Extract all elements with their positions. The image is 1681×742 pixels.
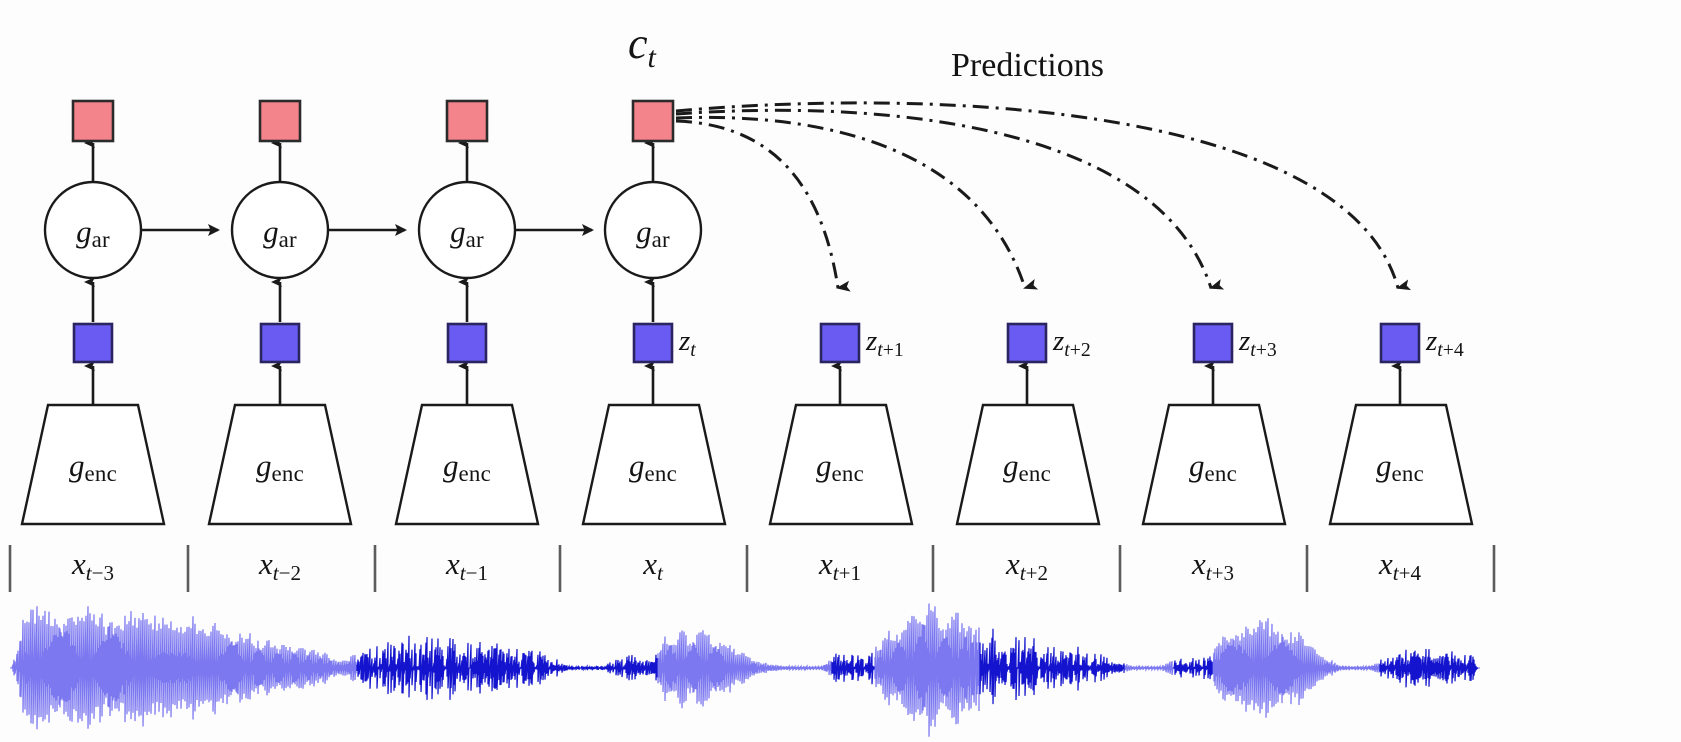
context-box [73,101,113,141]
predictions-label: Predictions [951,49,1104,83]
input-label-2: xt−1 [407,548,527,579]
waveform-segment [1213,618,1379,718]
waveform-segment [1174,657,1212,680]
latent-label-3: zt [679,327,696,356]
input-label-0: xt−3 [33,548,153,579]
latent-box [1008,324,1046,362]
latent-label-6: zt+3 [1239,327,1277,356]
latent-box [74,324,112,362]
context-box [260,101,300,141]
waveform-segment [832,653,874,684]
waveform-segment [357,636,657,700]
encoder-label-4: genc [775,450,905,481]
latent-box [261,324,299,362]
prediction-curve-1 [676,121,838,288]
ar-cell-label-2: gar [419,216,515,247]
waveform-segment [658,630,831,708]
waveform-segment [12,606,356,729]
latent-box [821,324,859,362]
input-label-6: xt+3 [1153,548,1273,579]
encoder-label-2: genc [402,450,532,481]
prediction-curves [676,103,1398,288]
encoder-label-0: genc [28,450,158,481]
ar-cell-label-3: gar [605,216,701,247]
waveform-segment [1125,661,1173,675]
figure-canvas: ct Predictions gar gar gar gar genc genc… [0,0,1681,742]
waveform-segment [875,604,979,737]
waveform-trace-light [12,604,1379,737]
encoder-label-6: genc [1148,450,1278,481]
latent-label-5: zt+2 [1053,327,1091,356]
encoder-label-5: genc [962,450,1092,481]
context-box [447,101,487,141]
waveform-segment [1380,649,1478,687]
prediction-curve-3 [676,110,1211,288]
input-label-1: xt−2 [220,548,340,579]
ar-cell-label-1: gar [232,216,328,247]
latent-label-7: zt+4 [1426,327,1464,356]
audio-waveform [10,604,1480,737]
cpc-architecture-diagram [0,0,1681,742]
encoder-label-3: genc [588,450,718,481]
prediction-curve-2 [676,117,1025,288]
latent-box [1194,324,1232,362]
context-box-ct [633,101,673,141]
latent-label-4: zt+1 [866,327,904,356]
encoder-label-1: genc [215,450,345,481]
latent-box [448,324,486,362]
input-label-7: xt+4 [1340,548,1460,579]
encoder-label-7: genc [1335,450,1465,481]
waveform-segment [980,629,1124,704]
latent-box [1381,324,1419,362]
input-label-3: xt [593,548,713,579]
latent-box [634,324,672,362]
input-label-5: xt+2 [967,548,1087,579]
ar-cell-label-0: gar [45,216,141,247]
prediction-curve-4 [676,103,1398,288]
context-vector-label: ct [628,22,656,66]
input-label-4: xt+1 [780,548,900,579]
